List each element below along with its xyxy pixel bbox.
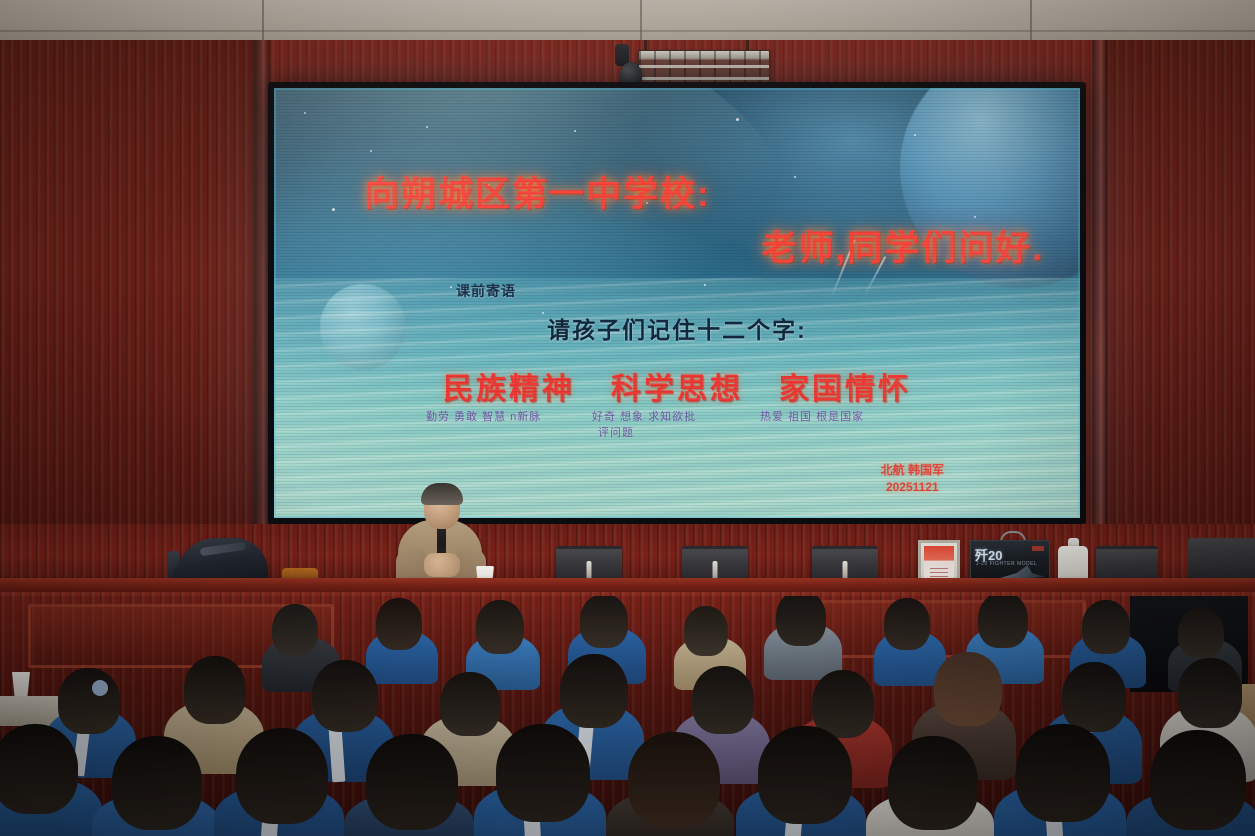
star-icon <box>736 118 739 121</box>
slide-keywords: 民族精神科学思想家国情怀 <box>274 364 1080 408</box>
slide-lead-text: 请孩子们记住十二个字: <box>274 311 1080 345</box>
audience-head <box>184 656 246 724</box>
audience-head <box>236 728 328 824</box>
fixture-bar <box>639 65 769 68</box>
model-box-sublabel: J-20 FIGHTER MODEL <box>976 561 1037 567</box>
lecture-hall-photo: 向朔城区第一中学校: 老师,同学们问好. 课前寄语 请孩子们记住十二个字: 民族… <box>0 0 1255 836</box>
audience-head <box>0 724 78 814</box>
audience-head <box>758 726 852 824</box>
audience-head <box>366 734 458 830</box>
slide-title-line1: 向朔城区第一中学校: <box>364 166 1044 217</box>
audience-head <box>272 604 318 656</box>
audience-head <box>1150 730 1246 830</box>
paper-cup <box>12 672 30 698</box>
fixture-bar <box>639 77 769 80</box>
audience-head <box>440 672 500 736</box>
annotation-group-2-line2: 评问题 <box>598 424 634 440</box>
star-icon <box>332 208 335 211</box>
annotation-group-3: 热爱 祖国 根是国家 <box>760 408 864 424</box>
audience-head <box>1082 600 1130 654</box>
audience-head <box>628 732 720 828</box>
audience-head <box>1062 662 1126 732</box>
star-icon <box>574 130 576 132</box>
keyword-1: 民族精神 <box>443 373 575 406</box>
annotation-group-1: 勤劳 勇敢 智慧 n新脉 <box>426 408 541 424</box>
audience-area <box>0 596 1255 836</box>
star-icon <box>370 150 372 152</box>
speaker-hair <box>421 483 463 505</box>
presentation-screen: 向朔城区第一中学校: 老师,同学们问好. 课前寄语 请孩子们记住十二个字: 民族… <box>274 88 1080 518</box>
wall-wainscot-panel <box>820 600 1086 658</box>
audience-head <box>1178 658 1242 728</box>
slide-title-line2: 老师,同学们问好. <box>364 220 1044 271</box>
star-icon <box>426 126 428 128</box>
signature-name: 北航 韩国军 <box>881 462 944 479</box>
audience-head <box>560 654 628 728</box>
slide-tag-label: 课前寄语 <box>456 281 516 301</box>
audience-head <box>776 596 826 646</box>
led-screen-frame: 向朔城区第一中学校: 老师,同学们问好. 课前寄语 请孩子们记住十二个字: 民族… <box>268 82 1086 524</box>
audience-head <box>476 600 524 654</box>
audience-head <box>58 668 120 734</box>
audience-head <box>112 736 202 830</box>
audience-head <box>1178 608 1224 658</box>
hair-tie <box>92 680 108 696</box>
audience-head <box>934 652 1002 726</box>
speaker-hands <box>424 553 460 577</box>
annotation-group-2-line1: 好奇 想象 求知欲批 <box>592 408 696 424</box>
star-icon <box>304 112 306 114</box>
keyword-2: 科学思想 <box>611 373 743 406</box>
star-icon <box>450 286 452 288</box>
keyword-3: 家国情怀 <box>779 373 911 406</box>
slide-signature: 北航 韩国军 20251121 <box>881 462 944 497</box>
audience-head <box>580 596 628 648</box>
star-icon <box>914 134 916 136</box>
audience-head <box>312 660 378 732</box>
audience-head <box>496 724 590 822</box>
ceiling-seam <box>0 30 1255 32</box>
audience-head <box>692 666 754 734</box>
audience-head <box>884 598 930 650</box>
audience-head <box>376 598 422 650</box>
audience-head <box>978 596 1028 648</box>
audience-head <box>1016 724 1110 822</box>
model-box-accent <box>1032 546 1044 551</box>
audience-head <box>888 736 978 830</box>
signature-date: 20251121 <box>881 479 944 496</box>
audience-head <box>684 606 728 656</box>
star-icon <box>704 284 706 286</box>
